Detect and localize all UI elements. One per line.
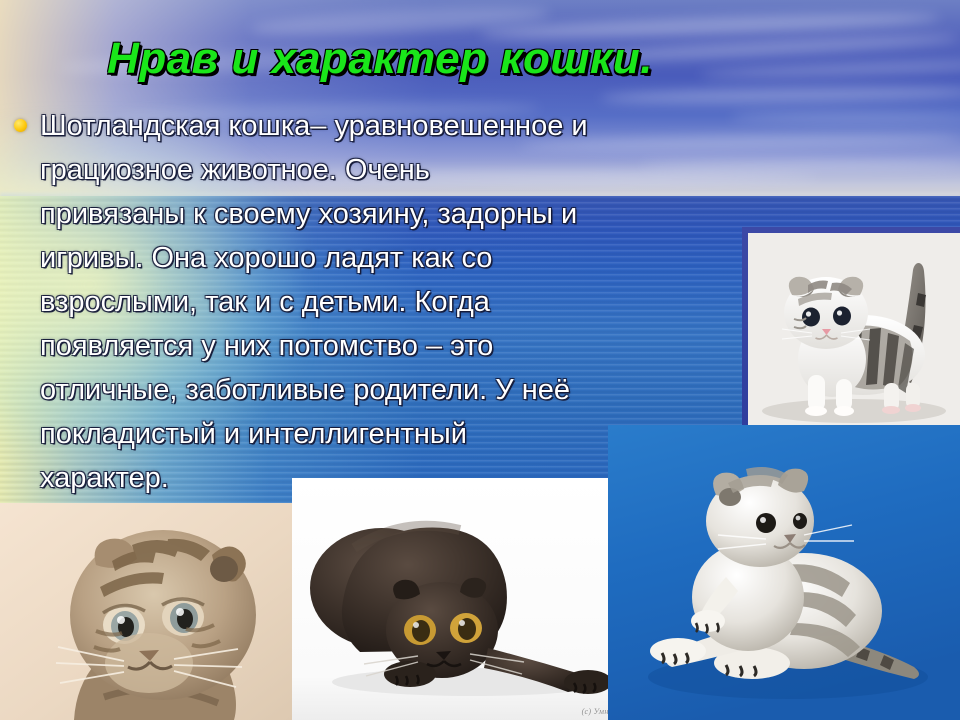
body-line: игривы. Она хорошо ладят как со: [40, 236, 780, 280]
page-title: Нрав и характер кошки.: [0, 34, 760, 84]
bullet-point-icon: [14, 119, 27, 132]
body-line: грациозное животное. Очень: [40, 148, 780, 192]
kitten-standing-illustration: [748, 233, 960, 425]
photo-silver-kitten: [608, 425, 960, 720]
photo-black-cat: (с) Умнякова Анна: [292, 478, 657, 720]
black-fold-stretching-illustration: [292, 478, 657, 720]
tabby-fold-head-illustration: [0, 503, 292, 720]
slide-canvas: Нрав и характер кошки. Шотландская кошка…: [0, 0, 960, 720]
body-line: привязаны к своему хозяину, задорны и: [40, 192, 780, 236]
photo-tabby-head: [0, 503, 292, 720]
photo-kitten-standing: [742, 227, 960, 425]
body-line: Шотландская кошка– уравновешенное и: [40, 104, 780, 148]
silver-kitten-illustration: [608, 425, 960, 720]
body-line: взрослыми, так и с детьми. Когда: [40, 280, 780, 324]
body-line: отличные, заботливые родители. У неё: [40, 368, 780, 412]
body-line: появляется у них потомство – это: [40, 324, 780, 368]
